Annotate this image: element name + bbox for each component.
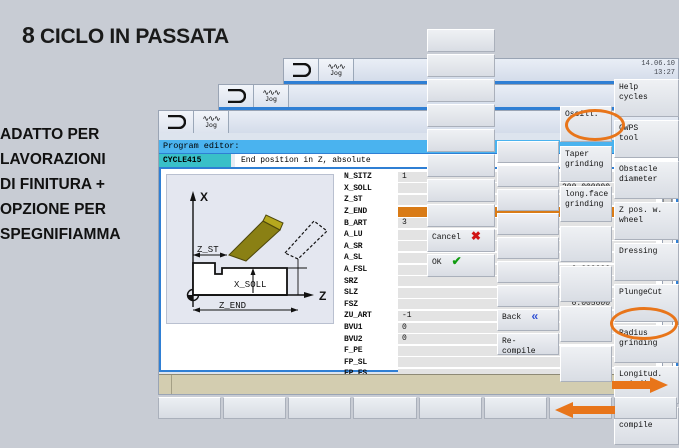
parameter-name: A_SR <box>339 242 398 251</box>
parameter-name: SRZ <box>339 277 398 286</box>
softkey-column-dialog: Cancel✖OK✔ <box>427 29 495 279</box>
softkey-content: Back« <box>502 313 555 323</box>
softkey-right-1[interactable]: GWPS tool <box>614 120 679 158</box>
softkey-label: GWPS tool <box>619 124 638 143</box>
parameter-name: Z_ST <box>339 195 398 204</box>
softkey-middle-4[interactable] <box>497 237 559 259</box>
softkey-inner-right-2[interactable]: long.face grinding <box>560 186 612 222</box>
parameter-name: N_SITZ <box>339 172 398 181</box>
softkey-bottom[interactable] <box>288 397 351 419</box>
svg-text:X: X <box>200 190 208 204</box>
softkey-dialog-4[interactable] <box>427 129 495 152</box>
channel-icon[interactable] <box>219 85 254 107</box>
softkey-label: long.face grinding <box>565 190 608 209</box>
softkey-bottom[interactable] <box>484 397 547 419</box>
softkey-middle-3[interactable] <box>497 213 559 235</box>
slide-body-text: ADATTO PER LAVORAZIONI DI FINITURA + OPZ… <box>0 122 160 247</box>
softkey-right-4[interactable]: Dressing <box>614 243 679 281</box>
datetime-display: 14.06.10 13:27 <box>641 60 675 77</box>
softkey-inner-right-0[interactable]: Oscill. <box>560 106 612 142</box>
channel-icon[interactable] <box>284 59 319 81</box>
nc-icon-group: ∿∿∿ Jog <box>159 111 229 133</box>
slide-body-line: LAVORAZIONI <box>0 147 160 172</box>
softkey-label: Taper grinding <box>565 150 603 169</box>
softkey-dialog-1[interactable] <box>427 54 495 77</box>
softkey-middle-7[interactable]: Back« <box>497 309 559 331</box>
softkey-bottom[interactable] <box>614 397 677 419</box>
softkey-mark-icon: ✔ <box>452 258 462 268</box>
softkey-dialog-3[interactable] <box>427 104 495 127</box>
softkey-dialog-2[interactable] <box>427 79 495 102</box>
nc-icon-group: ∿∿∿ Jog <box>284 59 354 81</box>
softkey-label: OK <box>432 258 442 268</box>
softkey-bottom[interactable] <box>223 397 286 419</box>
page-title-text: CICLO IN PASSATA <box>40 25 229 48</box>
softkey-inner-right-6[interactable] <box>560 346 612 382</box>
softkey-label: Cancel <box>432 233 461 243</box>
parameter-name: BVU2 <box>339 335 398 344</box>
nc-icon-group: ∿∿∿ Jog <box>219 85 289 107</box>
parameter-name: ZU_ART <box>339 311 398 320</box>
slide-body-line: OPZIONE PER <box>0 197 160 222</box>
softkey-bottom[interactable] <box>419 397 482 419</box>
softkey-dialog-8[interactable]: Cancel✖ <box>427 229 495 252</box>
svg-text:Z_ST: Z_ST <box>197 245 219 255</box>
softkey-label: Back <box>502 313 521 323</box>
softkey-right-5[interactable]: PlungeCut <box>614 284 679 322</box>
softkey-mark-icon: ✖ <box>471 233 481 243</box>
svg-text:X_SOLL: X_SOLL <box>234 280 266 290</box>
svg-text:Z_END: Z_END <box>219 301 246 311</box>
cycle-diagram-svg: X Z <box>167 175 333 323</box>
softkey-label: Z pos. w. wheel <box>619 206 662 225</box>
softkey-mark-icon: « <box>531 313 538 323</box>
softkey-label: Obstacle diameter <box>619 165 657 184</box>
softkey-inner-right-3[interactable] <box>560 226 612 262</box>
softkey-label: PlungeCut <box>619 288 662 297</box>
softkey-content: Cancel✖ <box>432 233 491 243</box>
jog-label: Jog <box>330 70 342 77</box>
svg-text:Z: Z <box>319 289 326 303</box>
softkey-dialog-0[interactable] <box>427 29 495 52</box>
softkey-right-0[interactable]: Help cycles <box>614 79 679 117</box>
jog-mode-icon[interactable]: ∿∿∿ Jog <box>194 111 229 133</box>
page-title: 8 CICLO IN PASSATA <box>22 22 229 49</box>
parameter-name: SLZ <box>339 288 398 297</box>
channel-icon[interactable] <box>159 111 194 133</box>
parameter-name: B_ART <box>339 219 398 228</box>
parameter-name: X_SOLL <box>339 184 398 193</box>
parameter-name: BVU1 <box>339 323 398 332</box>
softkey-content: OK✔ <box>432 258 491 268</box>
parameter-name: A_SL <box>339 253 398 262</box>
softkey-right-2[interactable]: Obstacle diameter <box>614 161 679 199</box>
slide-body-line: ADATTO PER <box>0 122 160 147</box>
softkey-label: Dressing <box>619 247 657 256</box>
softkey-middle-2[interactable] <box>497 189 559 211</box>
softkey-bar-bottom <box>158 397 679 419</box>
softkey-label: Oscill. <box>565 110 599 119</box>
parameter-name: Z_END <box>339 207 398 216</box>
softkey-bottom[interactable] <box>158 397 221 419</box>
slide-body-line: DI FINITURA + <box>0 172 160 197</box>
softkey-middle-8[interactable]: Re- compile <box>497 333 559 355</box>
softkey-label: Radius grinding <box>619 329 657 348</box>
softkey-label: Re- compile <box>502 337 536 355</box>
softkey-inner-right-4[interactable] <box>560 266 612 302</box>
softkey-column-middle: Back«Re- compile <box>497 141 559 357</box>
jog-label: Jog <box>205 122 217 129</box>
page-title-number: 8 <box>22 22 35 48</box>
softkey-middle-6[interactable] <box>497 285 559 307</box>
softkey-right-6[interactable]: Radius grinding <box>614 325 679 363</box>
slide-body-line: SPEGNIFIAMMA <box>0 222 160 247</box>
softkey-label: Longitud. grinding <box>619 370 662 389</box>
softkey-right-3[interactable]: Z pos. w. wheel <box>614 202 679 240</box>
softkey-dialog-6[interactable] <box>427 179 495 202</box>
date-text: 14.06.10 <box>641 60 675 69</box>
parameter-name: F_PE <box>339 346 398 355</box>
cycle-name-tag: CYCLE415 <box>159 154 231 168</box>
jog-mode-icon[interactable]: ∿∿∿ Jog <box>319 59 354 81</box>
softkey-inner-right-1[interactable]: Taper grinding <box>560 146 612 182</box>
softkey-bottom[interactable] <box>353 397 416 419</box>
jog-mode-icon[interactable]: ∿∿∿ Jog <box>254 85 289 107</box>
softkey-bottom[interactable] <box>549 397 612 419</box>
jog-label: Jog <box>265 96 277 103</box>
softkey-column-inner-right: Oscill.Taper grindinglong.face grinding <box>560 106 612 386</box>
softkey-middle-1[interactable] <box>497 165 559 187</box>
time-text: 13:27 <box>641 69 675 78</box>
softkey-middle-0[interactable] <box>497 141 559 163</box>
softkey-inner-right-5[interactable] <box>560 306 612 342</box>
cycle-diagram: X Z <box>166 174 334 324</box>
softkey-label: Help cycles <box>619 83 648 102</box>
softkey-middle-5[interactable] <box>497 261 559 283</box>
parameter-name: A_FSL <box>339 265 398 274</box>
status-cell-left <box>159 375 172 394</box>
softkey-dialog-7[interactable] <box>427 204 495 227</box>
parameter-name: FP_SL <box>339 358 398 367</box>
parameter-name: FSZ <box>339 300 398 309</box>
softkey-dialog-5[interactable] <box>427 154 495 177</box>
softkey-dialog-9[interactable]: OK✔ <box>427 254 495 277</box>
softkey-column-right: Help cyclesGWPS toolObstacle diameterZ p… <box>614 79 679 448</box>
parameter-name: A_LU <box>339 230 398 239</box>
graphic-panel: X Z <box>161 169 339 370</box>
